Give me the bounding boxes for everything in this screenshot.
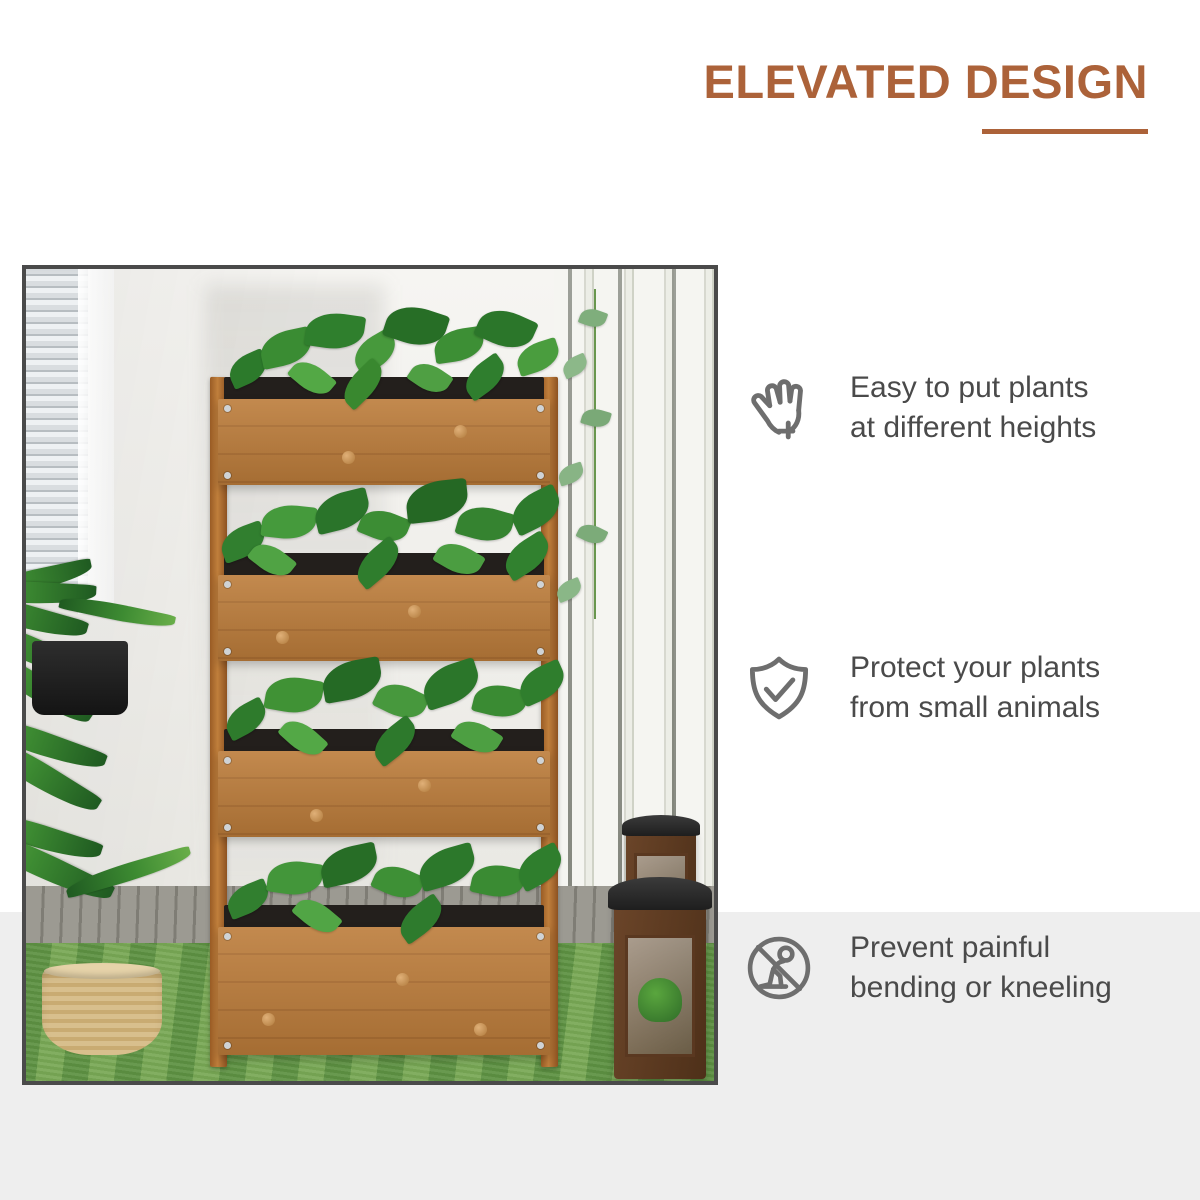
tier-front-panel [218,575,550,661]
planter-tier [218,729,550,837]
gardening-hand-icon [742,371,816,445]
tier-front-panel [218,399,550,485]
feature-label: Protect your plantsfrom small animals [850,648,1100,727]
screw [537,1042,544,1049]
planter-tier [218,553,550,661]
headline-divider [982,129,1148,134]
feature-label: Easy to put plantsat different heights [850,368,1096,447]
infographic-canvas: ELEVATED DESIGN [0,0,1200,1200]
screw [224,824,231,831]
screw [224,1042,231,1049]
wood-knot [408,605,421,618]
screw [224,757,231,764]
screw [537,757,544,764]
wood-knot [418,779,431,792]
screw [224,648,231,655]
planter-tier [218,377,550,485]
wood-knot [396,973,409,986]
tier-front-panel [218,751,550,837]
tier-front-panel [218,927,550,1055]
screw [537,581,544,588]
photo-scene [26,269,714,1081]
lantern-greenery [638,978,682,1022]
wood-knot [276,631,289,644]
lantern-cap [622,815,700,837]
planter-tier [218,905,550,1055]
no-kneeling-icon [742,931,816,1005]
seagrass-basket [42,969,162,1055]
page-title: ELEVATED DESIGN [528,56,1148,109]
feature-item-protection: Protect your plantsfrom small animals [742,630,1172,746]
trailing-vine [594,289,596,619]
wood-knot [262,1013,275,1026]
shield-check-icon [742,651,816,725]
screw [224,405,231,412]
wood-knot [454,425,467,438]
headline-block: ELEVATED DESIGN [528,56,1148,134]
screw [224,472,231,479]
feature-item-heights: Easy to put plantsat different heights [742,350,1172,466]
screw [537,933,544,940]
feature-label: Prevent painfulbending or kneeling [850,928,1112,1007]
screw [224,581,231,588]
screw [537,824,544,831]
lantern-front [614,899,706,1079]
fence-post [618,269,622,951]
screw [537,472,544,479]
lantern-cap [608,877,711,909]
tiered-planter [204,377,564,1067]
feature-item-no-bending: Prevent painfulbending or kneeling [742,910,1172,1026]
wood-knot [474,1023,487,1036]
product-photo [22,265,718,1085]
lantern-glass [625,935,695,1057]
feature-list: Easy to put plantsat different heights P… [742,350,1172,1026]
wood-knot [310,809,323,822]
screw [224,933,231,940]
wood-knot [342,451,355,464]
screw [537,405,544,412]
palm-pot [32,641,128,715]
palm-plant [26,545,230,965]
screw [537,648,544,655]
